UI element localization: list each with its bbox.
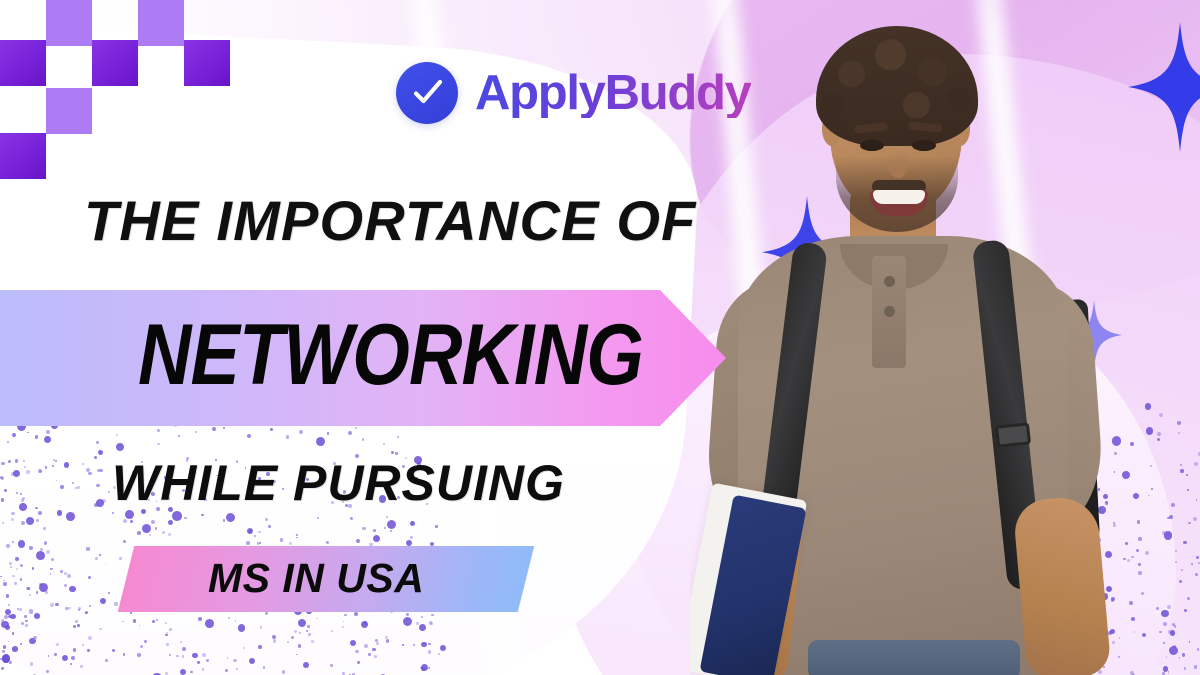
student-photo bbox=[690, 0, 1200, 675]
headline-line-1: THE IMPORTANCE OF bbox=[84, 193, 697, 249]
checker-square bbox=[92, 40, 138, 86]
headline-line-3: WHILE PURSUING bbox=[112, 458, 565, 508]
checker-square bbox=[184, 40, 230, 86]
strap-buckle bbox=[995, 422, 1031, 447]
checker-square bbox=[138, 0, 184, 46]
shirt-button-bottom bbox=[884, 306, 895, 317]
brand-wordmark: ApplyBuddy bbox=[475, 69, 751, 118]
eye-right bbox=[912, 140, 936, 151]
hair bbox=[816, 26, 978, 146]
promo-banner: ApplyBuddy THE IMPORTANCE OF NETWORKING … bbox=[0, 0, 1200, 675]
check-circle-icon bbox=[396, 62, 458, 124]
shirt-button-top bbox=[884, 276, 895, 287]
nose bbox=[888, 150, 908, 178]
checker-square bbox=[0, 40, 46, 86]
brand-logo[interactable]: ApplyBuddy bbox=[396, 62, 751, 124]
teeth bbox=[873, 190, 925, 204]
checker-square bbox=[46, 88, 92, 134]
badge-label: MS IN USA bbox=[208, 558, 424, 599]
checker-square bbox=[0, 133, 46, 179]
checker-square bbox=[46, 0, 92, 46]
checker-pattern bbox=[0, 0, 250, 195]
headline-highlight: NETWORKING bbox=[138, 300, 643, 410]
eye-left bbox=[860, 140, 884, 151]
jeans bbox=[808, 640, 1020, 675]
